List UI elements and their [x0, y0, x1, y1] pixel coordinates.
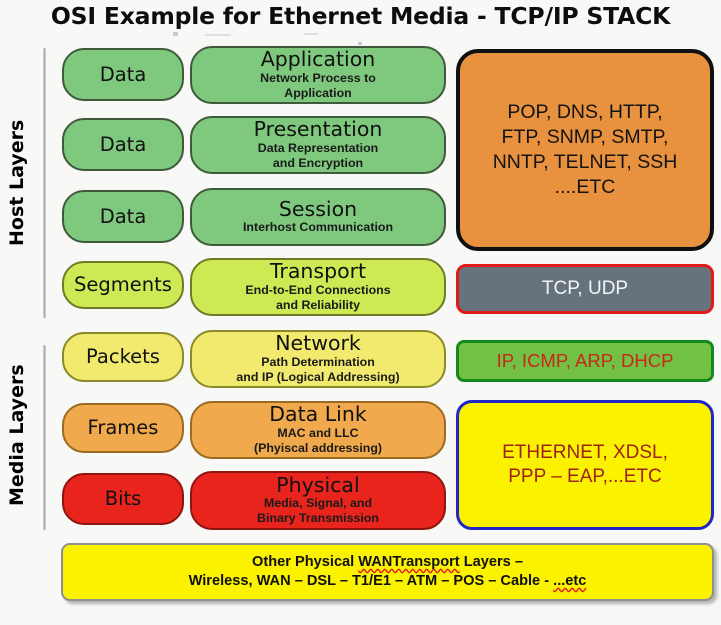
- protocol-line-2: FTP, SNMP, SMTP,: [493, 125, 678, 150]
- layer-desc-line2: (Phyiscal addressing): [254, 442, 382, 456]
- media-layers-label: Media Layers: [0, 335, 34, 535]
- unit-box-physical[interactable]: Bits: [62, 473, 184, 525]
- scan-artifact-dot: [358, 42, 362, 45]
- bottom-bar-line1-part-a: Other Physical: [252, 554, 358, 570]
- protocol-box-datalink[interactable]: ETHERNET, XDSL, PPP – EAP,...ETC: [456, 400, 714, 530]
- layer-box-physical[interactable]: Physical Media, Signal, and Binary Trans…: [190, 471, 446, 530]
- media-layers-bracket: [43, 345, 46, 530]
- layer-desc-line1: Media, Signal, and: [264, 497, 372, 511]
- layer-title: Data Link: [269, 404, 366, 425]
- scan-artifact-mid: [205, 34, 231, 36]
- layer-box-network[interactable]: Network Path Determination and IP (Logic…: [190, 330, 446, 388]
- protocol-line-1: ETHERNET, XDSL,: [502, 441, 668, 465]
- unit-label: Packets: [86, 347, 160, 367]
- layer-desc-line1: Data Representation: [258, 142, 379, 156]
- other-physical-wan-bar[interactable]: Other Physical WANTransport Layers – Wir…: [61, 543, 714, 601]
- unit-box-network[interactable]: Packets: [62, 332, 184, 382]
- layer-desc-line2: and Encryption: [273, 157, 363, 171]
- protocol-box-application[interactable]: POP, DNS, HTTP, FTP, SNMP, SMTP, NNTP, T…: [456, 49, 714, 251]
- layer-desc-line1: Path Determination: [261, 356, 375, 370]
- host-layers-bracket: [43, 48, 46, 318]
- protocol-line-1: POP, DNS, HTTP,: [493, 100, 678, 125]
- unit-label: Segments: [74, 275, 172, 295]
- page-title: OSI Example for Ethernet Media - TCP/IP …: [0, 2, 721, 30]
- unit-label: Bits: [105, 489, 142, 509]
- layer-title: Network: [275, 333, 361, 354]
- protocol-line-3: NNTP, TELNET, SSH: [493, 150, 678, 175]
- unit-box-presentation[interactable]: Data: [62, 118, 184, 171]
- unit-box-transport[interactable]: Segments: [62, 261, 184, 309]
- unit-label: Frames: [88, 418, 159, 438]
- layer-title: Session: [279, 199, 357, 220]
- bottom-bar-line-1: Other Physical WANTransport Layers –: [252, 553, 523, 572]
- layer-desc-line1: Interhost Communication: [243, 221, 393, 235]
- bottom-bar-line1-part-b: WANTransport: [358, 554, 459, 570]
- layer-desc-line2: Binary Transmission: [257, 512, 379, 526]
- unit-box-session[interactable]: Data: [62, 190, 184, 243]
- layer-title: Presentation: [254, 119, 383, 140]
- layer-desc-line1: MAC and LLC: [277, 427, 358, 441]
- bottom-bar-line2-part-a: Wireless, WAN – DSL – T1/E1 – ATM – POS …: [189, 573, 554, 589]
- layer-desc-line2: Application: [284, 87, 351, 101]
- layer-box-application[interactable]: Application Network Process to Applicati…: [190, 46, 446, 104]
- protocol-line-1: TCP, UDP: [542, 277, 628, 301]
- host-layers-label: Host Layers: [0, 48, 34, 318]
- unit-label: Data: [100, 65, 147, 85]
- protocol-line-4: ....ETC: [493, 175, 678, 200]
- protocol-box-network[interactable]: IP, ICMP, ARP, DHCP: [456, 340, 714, 382]
- layer-desc-line2: and IP (Logical Addressing): [236, 371, 399, 385]
- bottom-bar-line1-part-c: Layers –: [460, 554, 523, 570]
- unit-label: Data: [100, 207, 147, 227]
- bottom-bar-line2-part-b: ...etc: [553, 573, 586, 589]
- layer-box-presentation[interactable]: Presentation Data Representation and Enc…: [190, 116, 446, 174]
- protocol-box-transport[interactable]: TCP, UDP: [456, 264, 714, 314]
- layer-box-datalink[interactable]: Data Link MAC and LLC (Phyiscal addressi…: [190, 401, 446, 459]
- layer-title: Transport: [270, 261, 366, 282]
- bottom-bar-line-2: Wireless, WAN – DSL – T1/E1 – ATM – POS …: [189, 572, 587, 591]
- unit-box-application[interactable]: Data: [62, 48, 184, 101]
- protocol-line-2: PPP – EAP,...ETC: [502, 465, 668, 489]
- layer-desc-line2: and Reliability: [276, 299, 360, 313]
- scan-artifact-left: [173, 32, 178, 36]
- unit-box-datalink[interactable]: Frames: [62, 403, 184, 453]
- layer-title: Application: [261, 49, 376, 70]
- layer-box-session[interactable]: Session Interhost Communication: [190, 188, 446, 246]
- layer-title: Physical: [276, 475, 359, 496]
- layer-desc-line1: Network Process to: [260, 72, 376, 86]
- protocol-line-1: IP, ICMP, ARP, DHCP: [497, 349, 674, 373]
- scan-artifact-right: [304, 33, 318, 35]
- unit-label: Data: [100, 135, 147, 155]
- layer-box-transport[interactable]: Transport End-to-End Connections and Rel…: [190, 258, 446, 316]
- layer-desc-line1: End-to-End Connections: [245, 284, 390, 298]
